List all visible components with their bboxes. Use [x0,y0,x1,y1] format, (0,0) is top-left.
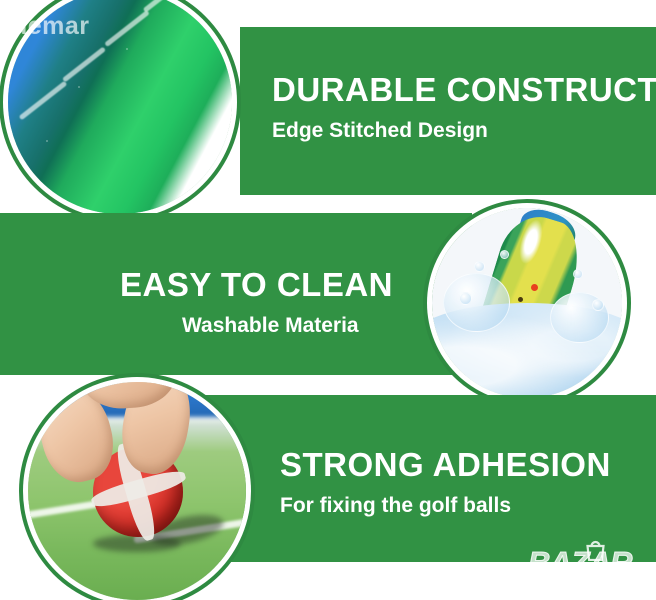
mat-texture-speck [126,48,128,50]
feature-subheading-strong-adhesion: For fixing the golf balls [280,495,511,516]
water-splash-image [432,208,622,398]
feature-heading-strong-adhesion: STRONG ADHESION [280,448,611,481]
golf-ball-photo [28,382,246,600]
feature-heading-durable-construction: DURABLE CONSTRUCTION [272,73,656,106]
bazar-watermark: BAZAR [528,541,648,583]
mat-red-marker [531,284,538,291]
water-droplet [474,261,485,272]
water-droplet [592,299,604,311]
water-splash-photo [432,208,622,398]
water-droplet [573,269,583,279]
feature-subheading-durable-construction: Edge Stitched Design [272,120,488,141]
ball-contact-shadow [93,535,180,552]
product-feature-banner: DURABLE CONSTRUCTION Edge Stitched Desig… [0,0,656,600]
feature-panel-durable-construction [240,27,656,195]
feature-subheading-easy-to-clean: Washable Materia [182,315,359,336]
mat-texture-speck [46,140,48,142]
mat-dark-marker [518,297,523,302]
feature-heading-easy-to-clean: EASY TO CLEAN [120,268,393,301]
demar-watermark: demar [12,14,90,39]
water-droplet [459,292,472,305]
shopping-bag-icon [583,539,608,561]
bazar-watermark-text: BAZAR [528,547,632,578]
golf-ball-image [28,382,246,600]
water-splash-blob [443,273,510,332]
mat-texture-speck [78,86,80,88]
